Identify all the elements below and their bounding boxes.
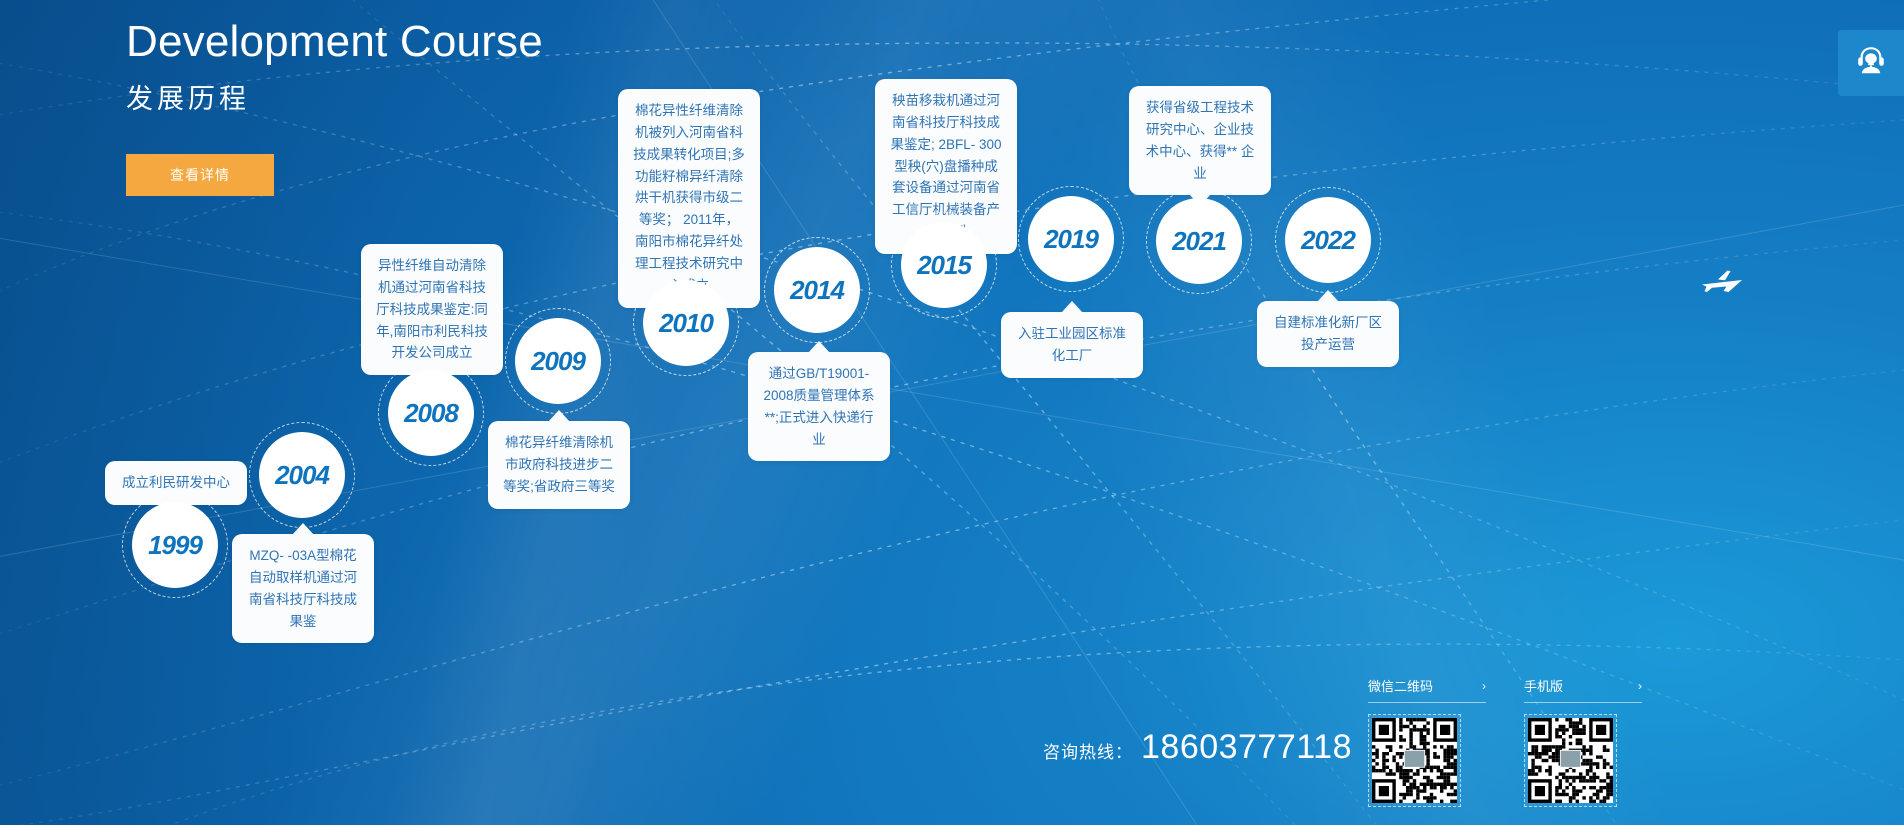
airplane-icon [1700, 268, 1746, 303]
year-circle-2010[interactable]: 2010 [643, 280, 729, 366]
qr-item-1[interactable]: 手机版› [1524, 676, 1642, 807]
event-description: 异性纤维自动清除机通过河南省科技厅科技成果鉴定:同年,南阳市利民科技开发公司成立 [376, 258, 488, 360]
hotline-label: 咨询热线： [1043, 738, 1133, 763]
qr-label: 手机版 [1524, 676, 1563, 695]
year-circle-2022[interactable]: 2022 [1285, 197, 1371, 283]
year-label: 2019 [1044, 224, 1098, 255]
year-circle-2009[interactable]: 2009 [515, 318, 601, 404]
year-label: 1999 [148, 530, 202, 561]
year-label: 2022 [1301, 225, 1355, 256]
chevron-right-icon: › [1638, 679, 1642, 693]
year-label: 2021 [1172, 226, 1226, 257]
year-label: 2015 [917, 250, 971, 281]
event-bubble-2009: 棉花异纤维清除机市政府科技进步二等奖;省政府三等奖 [488, 421, 630, 509]
year-circle-2008[interactable]: 2008 [388, 370, 474, 456]
event-description: 棉花异纤维清除机市政府科技进步二等奖;省政府三等奖 [503, 435, 615, 494]
event-description: 获得省级工程技术研究中心、企业技术中心、获得** 企业 [1146, 100, 1255, 181]
qr-item-0[interactable]: 微信二维码› [1368, 676, 1486, 807]
year-circle-1999[interactable]: 1999 [132, 502, 218, 588]
year-circle-2014[interactable]: 2014 [774, 247, 860, 333]
qr-label: 微信二维码 [1368, 676, 1433, 695]
chevron-right-icon: › [1482, 679, 1486, 693]
event-description: 自建标准化新厂区投产运营 [1274, 315, 1382, 352]
event-bubble-2014: 通过GB/T19001-2008质量管理体系**;正式进入快递行业 [748, 352, 890, 461]
event-bubble-2022: 自建标准化新厂区投产运营 [1257, 301, 1399, 367]
qr-header[interactable]: 手机版› [1524, 676, 1642, 703]
event-description: MZQ- -03A型棉花自动取样机通过河南省科技厅科技成果鉴 [249, 548, 357, 629]
year-circle-2019[interactable]: 2019 [1028, 196, 1114, 282]
qr-code-image [1368, 714, 1461, 807]
page-header: Development Course 发展历程 查看详情 [126, 14, 543, 196]
headset-support-icon [1854, 44, 1888, 83]
qr-code-group: 微信二维码›手机版› [1368, 676, 1642, 807]
event-description: 入驻工业园区标准化工厂 [1018, 326, 1126, 363]
year-circle-2004[interactable]: 2004 [259, 432, 345, 518]
year-label: 2009 [531, 346, 585, 377]
page-title-english: Development Course [126, 14, 543, 69]
event-bubble-2008: 异性纤维自动清除机通过河南省科技厅科技成果鉴定:同年,南阳市利民科技开发公司成立 [361, 244, 503, 375]
qr-code-image [1524, 714, 1617, 807]
view-details-button[interactable]: 查看详情 [126, 154, 274, 196]
event-bubble-2004: MZQ- -03A型棉花自动取样机通过河南省科技厅科技成果鉴 [232, 534, 374, 643]
year-circle-2015[interactable]: 2015 [901, 222, 987, 308]
hotline-block: 咨询热线： 18603777118 [1043, 728, 1352, 767]
year-label: 2014 [790, 275, 844, 306]
year-label: 2010 [659, 308, 713, 339]
year-label: 2008 [404, 398, 458, 429]
event-bubble-2021: 获得省级工程技术研究中心、企业技术中心、获得** 企业 [1129, 86, 1271, 195]
hotline-number: 18603777118 [1141, 728, 1352, 767]
customer-service-button[interactable] [1838, 30, 1904, 96]
event-description: 成立利民研发中心 [122, 475, 230, 490]
year-circle-2021[interactable]: 2021 [1156, 198, 1242, 284]
event-bubble-2019: 入驻工业园区标准化工厂 [1001, 312, 1143, 378]
page-title-chinese: 发展历程 [126, 77, 543, 116]
event-description: 通过GB/T19001-2008质量管理体系**;正式进入快递行业 [763, 366, 874, 447]
year-label: 2004 [275, 460, 329, 491]
bubble-pointer [1061, 301, 1083, 313]
qr-header[interactable]: 微信二维码› [1368, 676, 1486, 703]
event-description: 棉花异性纤维清除机被列入河南省科技成果转化项目;多功能籽棉异纤清除烘干机获得市级… [633, 103, 745, 293]
